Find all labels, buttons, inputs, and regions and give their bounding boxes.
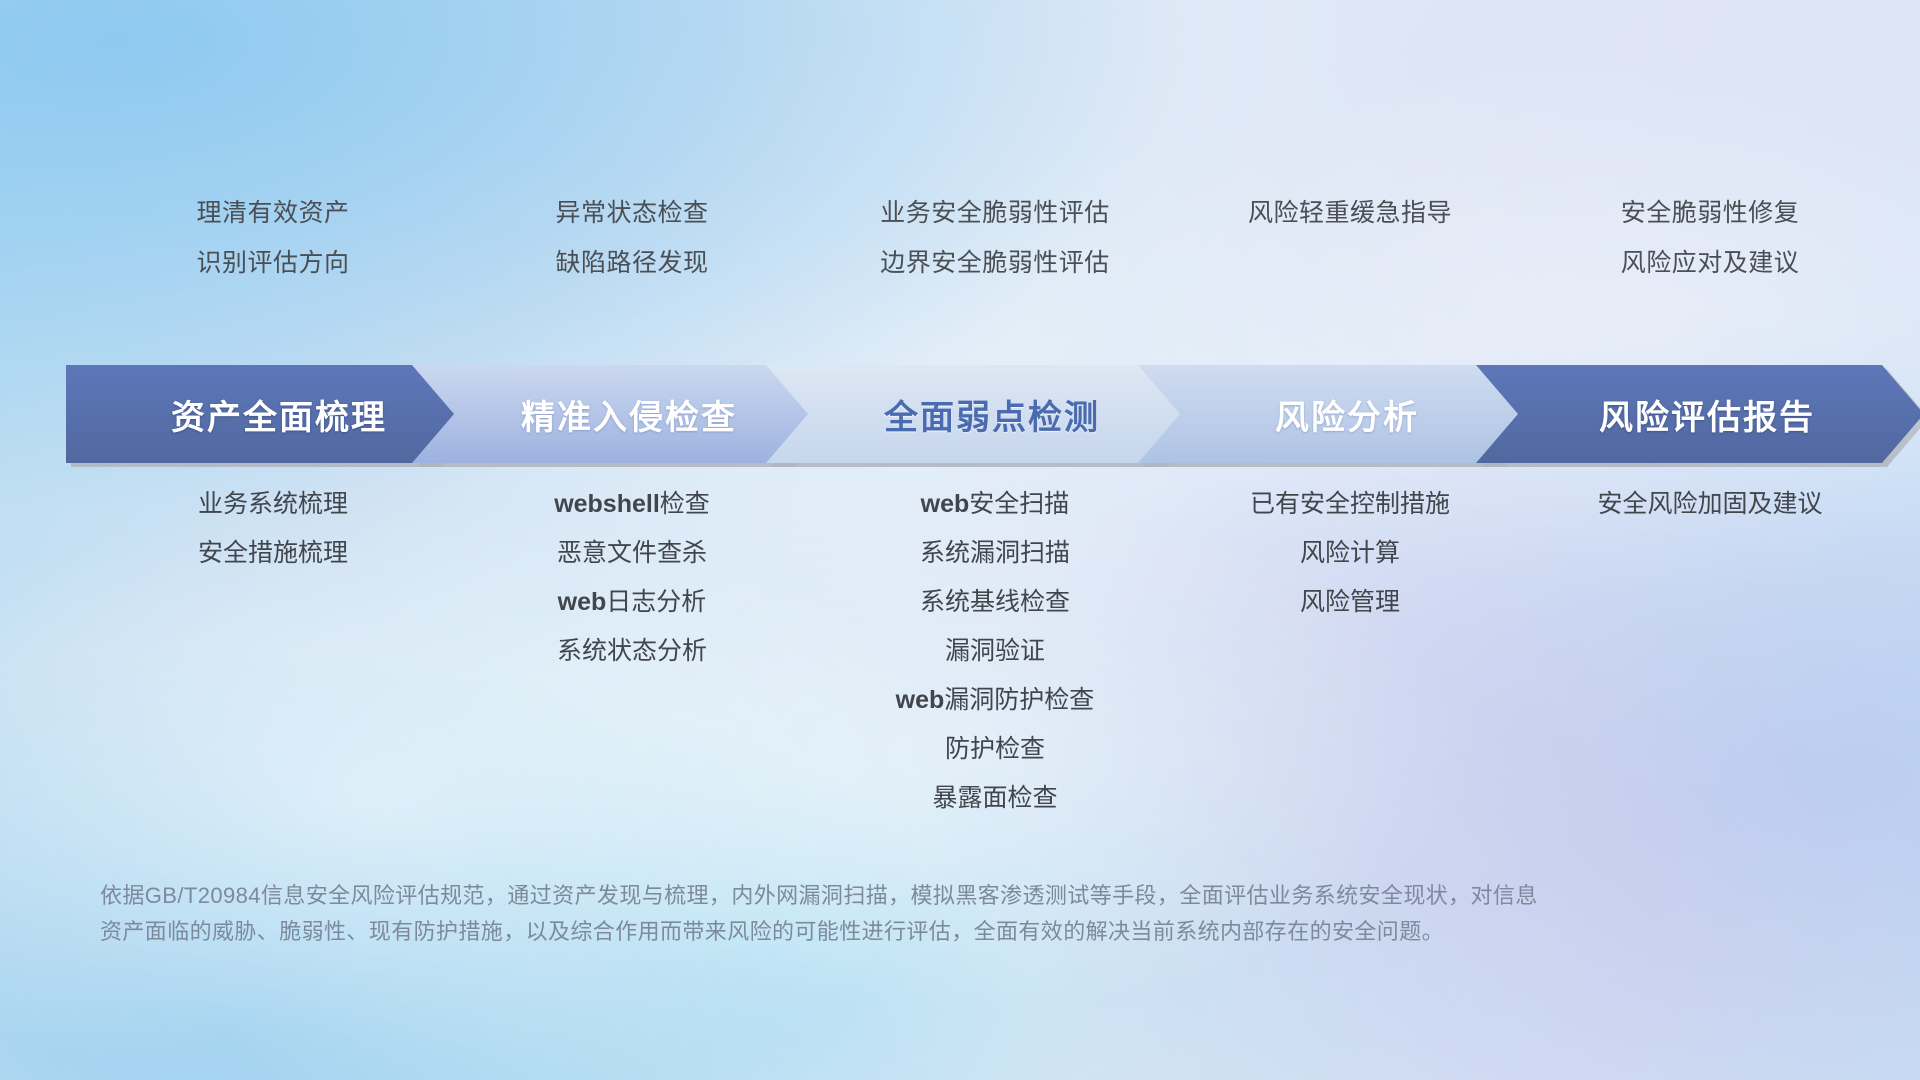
top-label: 风险轻重缓急指导 <box>1248 188 1452 238</box>
bottom-label: 安全风险加固及建议 <box>1516 480 1904 529</box>
top-labels-stage-4: 风险轻重缓急指导 <box>1178 188 1522 238</box>
bottom-label: 风险计算 <box>1178 529 1522 578</box>
footer-description: 依据GB/T20984信息安全风险评估规范，通过资产发现与梳理，内外网漏洞扫描，… <box>100 878 1800 950</box>
top-label: 边界安全脆弱性评估 <box>880 238 1110 288</box>
bottom-label: 安全措施梳理 <box>88 529 458 578</box>
chevron-label: 风险评估报告 <box>1599 390 1815 439</box>
bottom-label: 系统基线检查 <box>806 578 1184 627</box>
chevron-label: 精准入侵检查 <box>521 390 737 439</box>
bottom-label: web日志分析 <box>452 578 812 627</box>
chevron-band: 资产全面梳理精准入侵检查全面弱点检测风险分析风险评估报告 <box>0 365 1920 463</box>
bottom-label: webshell检查 <box>452 480 812 529</box>
bottom-label: 系统漏洞扫描 <box>806 529 1184 578</box>
bottom-label: 风险管理 <box>1178 578 1522 627</box>
bottom-label: 恶意文件查杀 <box>452 529 812 578</box>
bottom-label: 暴露面检查 <box>806 774 1184 823</box>
top-label: 业务安全脆弱性评估 <box>880 188 1110 238</box>
chevron-stage-5[interactable]: 风险评估报告 <box>1476 365 1920 463</box>
bottom-labels-stage-3: web安全扫描系统漏洞扫描系统基线检查漏洞验证web漏洞防护检查防护检查暴露面检… <box>806 480 1184 823</box>
chevron-label: 全面弱点检测 <box>884 390 1100 439</box>
top-labels-stage-1: 理清有效资产识别评估方向 <box>88 188 458 288</box>
top-labels-stage-3: 业务安全脆弱性评估边界安全脆弱性评估 <box>806 188 1184 288</box>
bottom-label: 已有安全控制措施 <box>1178 480 1522 529</box>
bottom-labels-stage-1: 业务系统梳理安全措施梳理 <box>88 480 458 578</box>
top-label: 理清有效资产 <box>196 188 349 238</box>
top-labels-stage-5: 安全脆弱性修复风险应对及建议 <box>1516 188 1904 288</box>
chevron-label: 风险分析 <box>1275 390 1419 439</box>
top-label: 风险应对及建议 <box>1621 238 1800 288</box>
bottom-labels-stage-4: 已有安全控制措施风险计算风险管理 <box>1178 480 1522 627</box>
bottom-label: web漏洞防护检查 <box>806 676 1184 725</box>
bottom-label: web安全扫描 <box>806 480 1184 529</box>
bottom-label: 漏洞验证 <box>806 627 1184 676</box>
bottom-labels-stage-2: webshell检查恶意文件查杀web日志分析系统状态分析 <box>452 480 812 676</box>
bottom-label: 系统状态分析 <box>452 627 812 676</box>
process-diagram: 理清有效资产识别评估方向异常状态检查缺陷路径发现业务安全脆弱性评估边界安全脆弱性… <box>0 0 1920 1080</box>
chevron-label: 资产全面梳理 <box>171 390 387 439</box>
bottom-labels-stage-5: 安全风险加固及建议 <box>1516 480 1904 529</box>
top-label: 安全脆弱性修复 <box>1621 188 1800 238</box>
footer-line-2: 资产面临的威胁、脆弱性、现有防护措施，以及综合作用而带来风险的可能性进行评估，全… <box>100 914 1800 950</box>
top-label: 识别评估方向 <box>196 238 349 288</box>
top-label: 缺陷路径发现 <box>555 238 708 288</box>
bottom-label: 业务系统梳理 <box>88 480 458 529</box>
bottom-label: 防护检查 <box>806 725 1184 774</box>
top-labels-stage-2: 异常状态检查缺陷路径发现 <box>452 188 812 288</box>
top-label: 异常状态检查 <box>555 188 708 238</box>
footer-line-1: 依据GB/T20984信息安全风险评估规范，通过资产发现与梳理，内外网漏洞扫描，… <box>100 878 1800 914</box>
